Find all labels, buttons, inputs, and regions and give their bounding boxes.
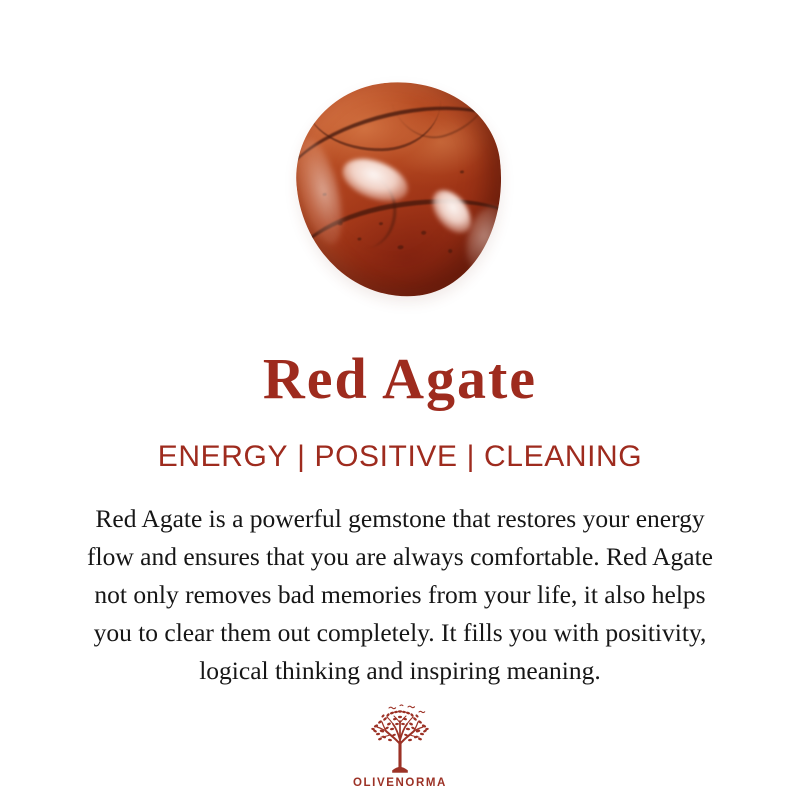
stone-rim-light [289, 135, 351, 248]
keyword-separator: | [458, 440, 484, 473]
stone-speck [398, 245, 404, 250]
description-text: Red Agate is a powerful gemstone that re… [24, 500, 776, 690]
keyword-separator: | [288, 440, 314, 473]
tree-of-life-icon [362, 704, 438, 776]
stone-speck [460, 170, 464, 173]
red-agate-stone-icon [287, 72, 513, 307]
brand-logo: OLIVENORMA [353, 704, 447, 789]
brand-name: OLIVENORMA [353, 777, 447, 789]
keyword-energy: ENERGY [158, 440, 288, 473]
product-image-area [0, 0, 800, 318]
stone-vein [391, 72, 504, 149]
description-line: Red Agate is a powerful gemstone that re… [24, 500, 776, 538]
description-line: not only removes bad memories from your … [24, 576, 776, 614]
stone-body [287, 72, 513, 307]
stone-speck [379, 222, 383, 225]
stone-speck [448, 249, 452, 253]
product-info-card: Red Agate ENERGY|POSITIVE|CLEANING Red A… [0, 0, 800, 800]
description-line: you to clear them out completely. It fil… [24, 614, 776, 652]
keyword-list: ENERGY|POSITIVE|CLEANING [158, 442, 642, 472]
keyword-positive: POSITIVE [314, 440, 457, 473]
description-line: flow and ensures that you are always com… [24, 538, 776, 576]
stone-vein [306, 87, 442, 153]
stone-speck [421, 230, 426, 235]
stone-highlight [337, 151, 413, 209]
keyword-cleaning: CLEANING [484, 440, 642, 473]
page-title: Red Agate [263, 350, 537, 408]
stone-speck [358, 237, 362, 240]
description-line: logical thinking and inspiring meaning. [24, 652, 776, 690]
